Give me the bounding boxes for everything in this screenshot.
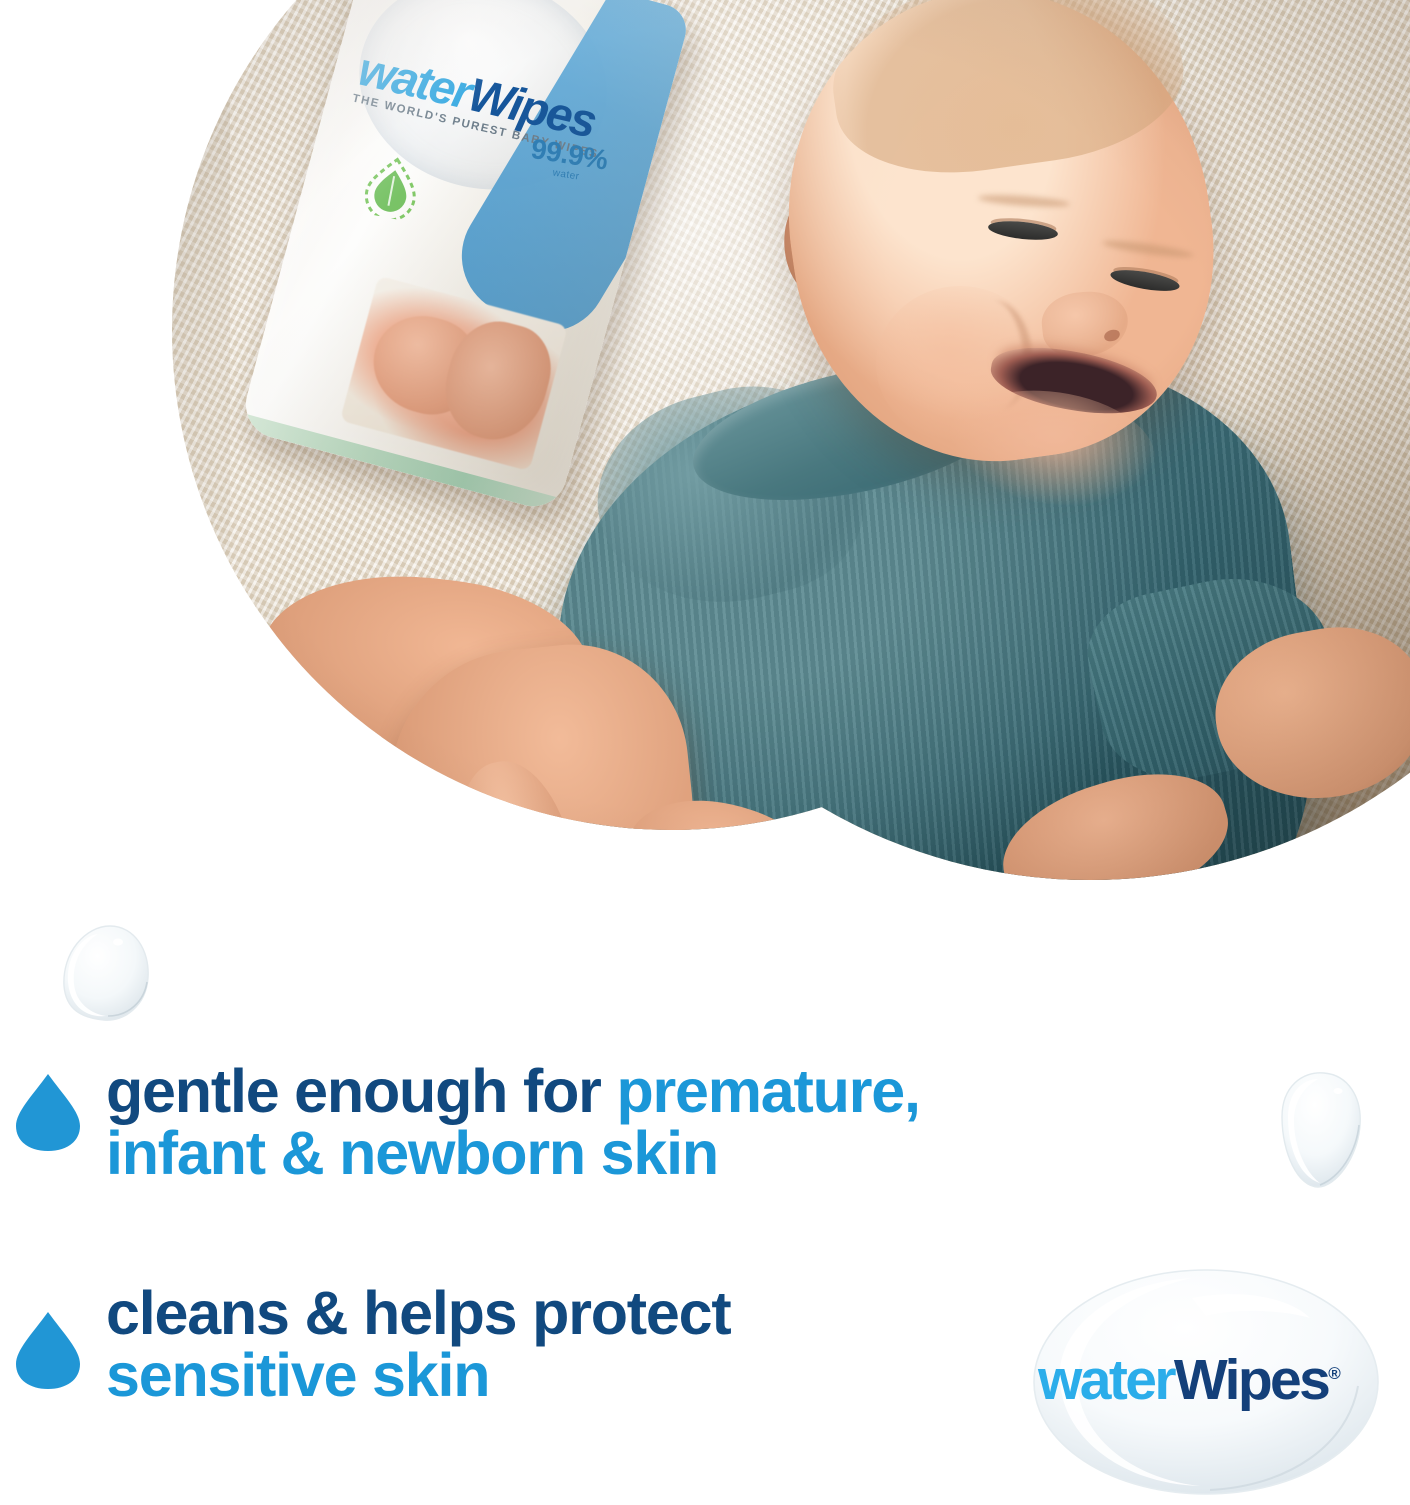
logo-wipes-text: Wipes	[1174, 1348, 1328, 1412]
baby-photo-subject	[0, 0, 1410, 1000]
logo-wordmark: waterWipes®	[1038, 1352, 1388, 1409]
registered-trademark-icon: ®	[1328, 1364, 1341, 1383]
benefit-2-text: cleans & helps protect sensitive skin	[106, 1282, 730, 1406]
benefit-1-line-2: infant & newborn skin	[106, 1122, 920, 1184]
benefit-1-light: premature,	[616, 1057, 919, 1125]
hero-photo-clip: waterWipes THE WORLD'S PUREST BABY WIPES…	[0, 0, 1410, 1000]
benefit-item-2: cleans & helps protect sensitive skin	[14, 1282, 730, 1406]
benefit-item-1: gentle enough for premature, infant & ne…	[14, 1060, 920, 1184]
water-drop-bullet-icon	[14, 1310, 82, 1390]
benefit-1-line-1: gentle enough for premature,	[106, 1060, 920, 1122]
benefit-1-text: gentle enough for premature, infant & ne…	[106, 1060, 920, 1184]
benefit-1-dark: gentle enough for	[106, 1057, 616, 1125]
benefit-2-line-1: cleans & helps protect	[106, 1282, 730, 1344]
logo-water-text: water	[1038, 1348, 1174, 1412]
benefit-2-line-2: sensitive skin	[106, 1344, 730, 1406]
hero-image: waterWipes THE WORLD'S PUREST BABY WIPES…	[0, 0, 1410, 1000]
photo-vignette	[0, 0, 1410, 1000]
brand-logo: waterWipes®	[1010, 1264, 1400, 1500]
water-drop-bullet-icon	[14, 1072, 82, 1152]
